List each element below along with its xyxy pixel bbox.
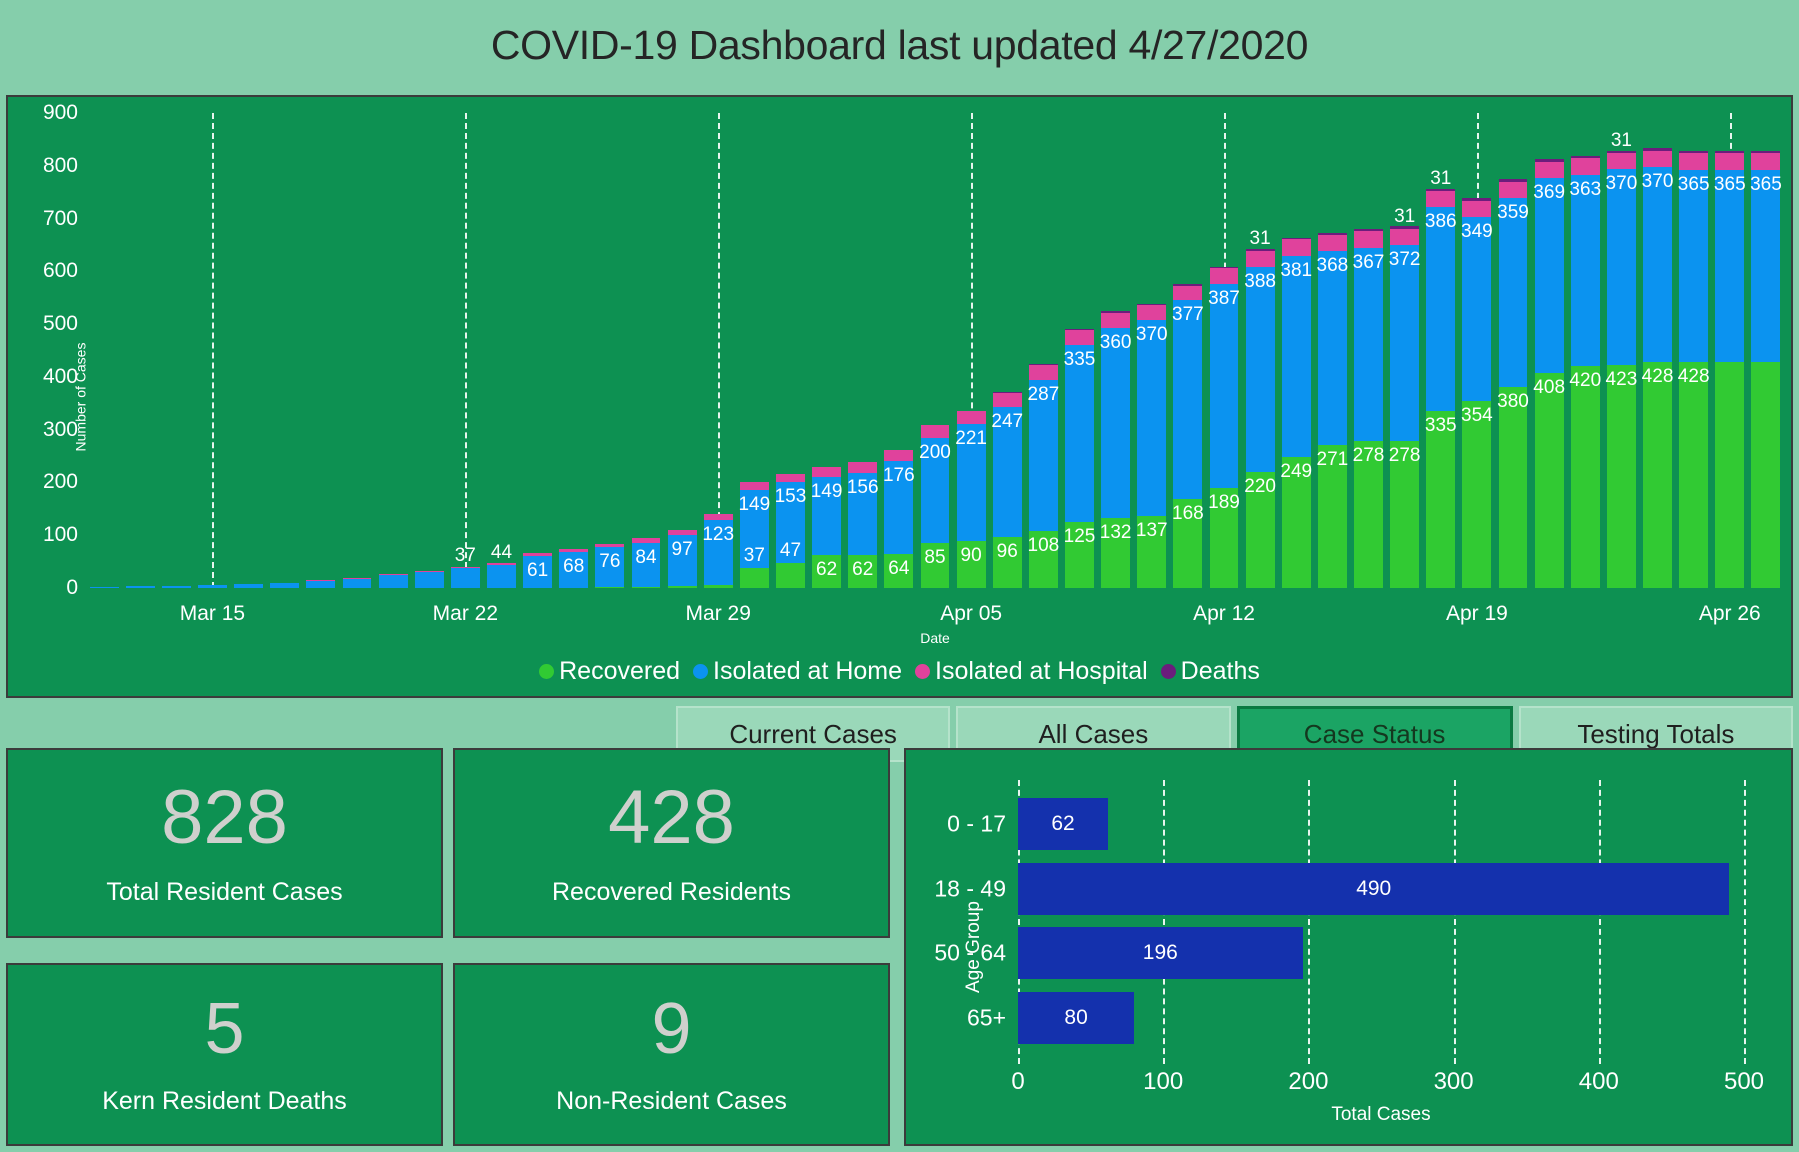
age-plot-area: 0 - 176218 - 4949050 - 6419665+80 010020… xyxy=(1018,792,1744,1050)
age-bar-row[interactable]: 65+80 xyxy=(1018,992,1744,1044)
bar-segment-isolated-at-hospital xyxy=(884,450,913,461)
bar-segment-isolated-at-hospital xyxy=(1101,313,1130,329)
age-group-chart: Age Group 0 - 176218 - 4949050 - 6419665… xyxy=(904,748,1793,1146)
tab-label: Case Status xyxy=(1304,719,1446,750)
bar-segment-isolated-at-home xyxy=(379,575,408,588)
bar-segment-isolated-at-home: 386 xyxy=(1426,207,1455,411)
age-x-tick-label: 500 xyxy=(1724,1068,1764,1096)
bar-value-label: 354 xyxy=(1461,406,1493,425)
bar-segment-recovered: 423 xyxy=(1607,365,1636,588)
kpi-value: 428 xyxy=(608,780,735,856)
bar-segment-isolated-at-home: 368 xyxy=(1318,251,1347,445)
bar-segment-recovered: 278 xyxy=(1354,441,1383,588)
age-bar: 80 xyxy=(1018,992,1134,1044)
stacked-bar[interactable] xyxy=(126,586,155,588)
bar-segment-isolated-at-home: 37 xyxy=(451,568,480,588)
bar-value-label: 365 xyxy=(1750,175,1782,194)
stacked-bar[interactable]: 360132 xyxy=(1101,311,1130,588)
age-bar-row[interactable]: 18 - 49490 xyxy=(1018,863,1744,915)
age-bar: 490 xyxy=(1018,863,1729,915)
bar-value-label: 189 xyxy=(1208,493,1240,512)
bar-segment-isolated-at-home xyxy=(90,587,119,588)
bar-value-label: 388 xyxy=(1244,272,1276,291)
bar-value-label: 62 xyxy=(816,560,837,579)
bar-segment-isolated-at-home: 365 xyxy=(1679,170,1708,363)
stacked-bar[interactable]: 365 xyxy=(1751,151,1780,588)
bar-segment-isolated-at-hospital xyxy=(1535,162,1564,178)
y-tick-label: 100 xyxy=(43,523,78,547)
bar-value-label: 125 xyxy=(1064,527,1096,546)
kpi-recovered-residents: 428 Recovered Residents xyxy=(453,748,890,938)
bar-segment-recovered: 271 xyxy=(1318,445,1347,588)
legend-swatch-icon xyxy=(1161,664,1176,679)
stacked-bar[interactable]: 368271 xyxy=(1318,233,1347,588)
kpi-kern-resident-deaths: 5 Kern Resident Deaths xyxy=(6,963,443,1146)
bar-segment-isolated-at-home: 287 xyxy=(1029,380,1058,531)
bar-segment-isolated-at-hospital xyxy=(1643,151,1672,167)
bar-segment-isolated-at-home: 381 xyxy=(1282,256,1311,457)
bar-segment-isolated-at-home: 76 xyxy=(595,547,624,587)
stacked-bar[interactable]: 84 xyxy=(632,538,661,588)
y-tick-label: 900 xyxy=(43,101,78,125)
bar-value-label: 90 xyxy=(961,546,982,565)
age-category-label: 50 - 64 xyxy=(934,940,1006,967)
y-tick-label: 500 xyxy=(43,312,78,336)
stacked-bar[interactable]: 349354 xyxy=(1462,198,1491,588)
bar-segment-recovered: 96 xyxy=(993,537,1022,588)
bar-value-label: 176 xyxy=(883,466,915,485)
bar-value-label: 97 xyxy=(672,540,693,559)
stacked-bar[interactable]: 68 xyxy=(559,549,588,588)
bar-value-label: 156 xyxy=(847,478,879,497)
bar-segment-recovered: 132 xyxy=(1101,518,1130,588)
bar-segment-recovered: 380 xyxy=(1499,387,1528,588)
stacked-bar[interactable]: 359380 xyxy=(1499,179,1528,588)
stacked-bar[interactable]: 15347 xyxy=(776,474,805,589)
stacked-bar[interactable] xyxy=(343,578,372,588)
bar-segment-isolated-at-hospital: 31 xyxy=(1426,191,1455,207)
bar-value-label: 132 xyxy=(1100,523,1132,542)
bar-value-label: 278 xyxy=(1389,446,1421,465)
legend-item-recovered[interactable]: Recovered xyxy=(539,657,680,686)
bar-segment-isolated-at-home xyxy=(162,586,191,588)
bar-segment-isolated-at-home: 156 xyxy=(848,473,877,555)
legend-swatch-icon xyxy=(539,664,554,679)
bar-segment-isolated-at-home: 377 xyxy=(1173,300,1202,499)
y-tick-label: 700 xyxy=(43,207,78,231)
bar-value-label: 369 xyxy=(1533,183,1565,202)
stacked-bar[interactable] xyxy=(234,584,263,588)
bar-segment-isolated-at-home: 360 xyxy=(1101,328,1130,518)
bar-segment-recovered: 220 xyxy=(1246,472,1275,588)
bar-segment-isolated-at-hospital xyxy=(1715,153,1744,169)
age-bar: 62 xyxy=(1018,798,1108,850)
age-bar-row[interactable]: 50 - 64196 xyxy=(1018,927,1744,979)
bar-value-label: 168 xyxy=(1172,504,1204,523)
stacked-bar[interactable]: 22190 xyxy=(957,411,986,588)
bar-value-label: 360 xyxy=(1100,333,1132,352)
bar-value-label: 365 xyxy=(1714,175,1746,194)
legend-label: Isolated at Hospital xyxy=(935,657,1148,686)
bar-segment-recovered xyxy=(595,587,624,588)
grid-line xyxy=(212,113,214,588)
plot-area: 0100200300400500600700800900 37446168768… xyxy=(86,113,1784,588)
bar-value-label: 149 xyxy=(811,482,843,501)
bar-segment-isolated-at-hospital xyxy=(957,411,986,424)
x-tick-label: Apr 05 xyxy=(940,602,1002,626)
stacked-bar[interactable]: 76 xyxy=(595,544,624,588)
y-tick-label: 600 xyxy=(43,259,78,283)
bar-segment-recovered: 137 xyxy=(1137,516,1166,588)
bar-value-label: 368 xyxy=(1317,256,1349,275)
x-tick-label: Mar 29 xyxy=(686,602,751,626)
bar-segment-isolated-at-hospital: 31 xyxy=(1246,251,1275,267)
bar-segment-recovered: 428 xyxy=(1643,362,1672,588)
age-x-tick-label: 300 xyxy=(1434,1068,1474,1096)
bar-segment-isolated-at-hospital: 31 xyxy=(1390,229,1419,245)
bar-segment-recovered: 354 xyxy=(1462,401,1491,588)
stacked-bar[interactable]: 377168 xyxy=(1173,284,1202,588)
bar-segment-isolated-at-home: 97 xyxy=(668,535,697,586)
bar-value-label: 367 xyxy=(1353,253,1385,272)
bar-segment-isolated-at-hospital xyxy=(1462,201,1491,217)
legend-label: Isolated at Home xyxy=(713,657,902,686)
stacked-bar[interactable]: 363420 xyxy=(1571,156,1600,588)
bar-value-label: 335 xyxy=(1064,350,1096,369)
bar-segment-isolated-at-home: 153 xyxy=(776,482,805,563)
stacked-bar[interactable] xyxy=(270,583,299,588)
x-tick-label: Mar 22 xyxy=(433,602,498,626)
bar-segment-isolated-at-hospital xyxy=(1137,305,1166,320)
bar-value-label: 200 xyxy=(919,443,951,462)
age-x-tick-label: 400 xyxy=(1579,1068,1619,1096)
stacked-bar[interactable]: 367278 xyxy=(1354,229,1383,588)
bar-segment-recovered: 428 xyxy=(1679,362,1708,588)
x-tick-label: Apr 19 xyxy=(1446,602,1508,626)
kpi-value: 9 xyxy=(651,993,691,1065)
bar-segment-recovered: 47 xyxy=(776,563,805,588)
case-status-timeline-chart: Number of Cases 010020030040050060070080… xyxy=(6,95,1793,698)
bar-value-label: 220 xyxy=(1244,477,1276,496)
age-bar: 196 xyxy=(1018,927,1303,979)
chart-legend: RecoveredIsolated at HomeIsolated at Hos… xyxy=(8,657,1791,686)
y-tick-label: 800 xyxy=(43,154,78,178)
bar-value-label: 221 xyxy=(955,429,987,448)
bar-segment-isolated-at-hospital xyxy=(1679,153,1708,169)
age-category-label: 65+ xyxy=(967,1004,1006,1031)
age-bar-value-label: 490 xyxy=(1356,877,1391,901)
bar-value-label: 68 xyxy=(563,557,584,576)
bar-value-label: 363 xyxy=(1569,180,1601,199)
bar-segment-isolated-at-hospital xyxy=(848,462,877,473)
legend-swatch-icon xyxy=(693,664,708,679)
bar-value-label: 370 xyxy=(1642,172,1674,191)
bar-value-label: 386 xyxy=(1425,212,1457,231)
bar-segment-isolated-at-home: 370 xyxy=(1643,167,1672,362)
bar-segment-isolated-at-home: 372 xyxy=(1390,245,1419,441)
stacked-bar[interactable]: 370137 xyxy=(1137,304,1166,588)
bar-segment-isolated-at-home xyxy=(343,579,372,589)
stacked-bar[interactable]: 370428 xyxy=(1643,148,1672,588)
bar-segment-recovered: 408 xyxy=(1535,373,1564,588)
bar-segment-isolated-at-home: 221 xyxy=(957,424,986,541)
bar-segment-isolated-at-home: 61 xyxy=(523,556,552,588)
stacked-bar[interactable]: 123 xyxy=(704,514,733,588)
bar-segment-recovered: 189 xyxy=(1210,488,1239,588)
bar-value-label: 380 xyxy=(1497,392,1529,411)
stacked-bar[interactable]: 24796 xyxy=(993,392,1022,588)
stacked-bar[interactable]: 61 xyxy=(523,553,552,588)
stacked-bar[interactable]: 381249 xyxy=(1282,238,1311,588)
legend-item-isolated-at-hospital[interactable]: Isolated at Hospital xyxy=(915,657,1148,686)
age-bar-value-label: 62 xyxy=(1051,812,1074,836)
bar-value-label: 62 xyxy=(852,560,873,579)
bar-value-label: 249 xyxy=(1280,462,1312,481)
bar-value-label: 359 xyxy=(1497,203,1529,222)
age-grid-line xyxy=(1744,780,1746,1064)
y-tick-label: 300 xyxy=(43,418,78,442)
bar-segment-isolated-at-hospital xyxy=(921,425,950,437)
legend-item-isolated-at-home[interactable]: Isolated at Home xyxy=(693,657,902,686)
bar-value-label: 96 xyxy=(997,542,1018,561)
age-x-axis-label: Total Cases xyxy=(1018,1104,1744,1126)
bar-segment-isolated-at-home xyxy=(234,584,263,588)
y-tick-label: 400 xyxy=(43,365,78,389)
bar-segment-recovered: 125 xyxy=(1065,522,1094,588)
bar-segment-recovered xyxy=(1751,362,1780,588)
stacked-bar[interactable]: 369408 xyxy=(1535,159,1564,588)
stacked-bar[interactable]: 37 xyxy=(451,567,480,588)
stacked-bar[interactable]: 31372278 xyxy=(1390,226,1419,588)
bar-value-label: 287 xyxy=(1028,385,1060,404)
bar-value-label: 349 xyxy=(1461,222,1493,241)
kpi-label: Non-Resident Cases xyxy=(556,1087,787,1116)
bar-segment-isolated-at-home xyxy=(415,572,444,588)
bar-segment-isolated-at-home: 68 xyxy=(559,552,588,588)
bar-segment-isolated-at-home: 365 xyxy=(1751,170,1780,363)
age-x-tick-label: 0 xyxy=(1011,1068,1024,1096)
age-category-label: 18 - 49 xyxy=(934,875,1006,902)
tab-label: Current Cases xyxy=(729,719,897,750)
bar-value-label: 85 xyxy=(924,548,945,567)
bar-segment-isolated-at-hospital xyxy=(1210,268,1239,284)
stacked-bar[interactable]: 335125 xyxy=(1065,329,1094,588)
bar-value-label: 247 xyxy=(991,412,1023,431)
bar-value-label: 370 xyxy=(1136,325,1168,344)
bar-segment-isolated-at-home: 44 xyxy=(487,565,516,588)
bar-value-label: 153 xyxy=(775,487,807,506)
bar-segment-isolated-at-home: 369 xyxy=(1535,178,1564,373)
bar-segment-isolated-at-home: 388 xyxy=(1246,267,1275,472)
y-tick-label: 200 xyxy=(43,470,78,494)
kpi-non-resident-cases: 9 Non-Resident Cases xyxy=(453,963,890,1146)
bar-segment-isolated-at-home: 200 xyxy=(921,438,950,544)
bar-value-label: 149 xyxy=(738,495,770,514)
stacked-bar[interactable]: 31370423 xyxy=(1607,151,1636,589)
stacked-bar[interactable]: 17664 xyxy=(884,450,913,588)
stacked-bar[interactable] xyxy=(379,574,408,588)
x-tick-label: Apr 12 xyxy=(1193,602,1255,626)
bar-segment-recovered xyxy=(668,586,697,588)
stacked-bar[interactable]: 31388220 xyxy=(1246,249,1275,588)
bar-value-label: 365 xyxy=(1678,175,1710,194)
bar-segment-isolated-at-home: 370 xyxy=(1137,320,1166,515)
stacked-bar[interactable] xyxy=(162,586,191,588)
bar-value-label: 108 xyxy=(1028,536,1060,555)
stacked-bar[interactable]: 44 xyxy=(487,563,516,588)
bar-segment-isolated-at-home: 349 xyxy=(1462,217,1491,401)
grid-line xyxy=(465,113,467,588)
stacked-bar[interactable]: 15662 xyxy=(848,462,877,588)
stacked-bar[interactable]: 14937 xyxy=(740,482,769,588)
bar-value-label: 271 xyxy=(1317,450,1349,469)
bar-segment-isolated-at-hospital xyxy=(1065,330,1094,345)
bar-segment-isolated-at-hospital xyxy=(1499,182,1528,198)
bar-segment-recovered: 90 xyxy=(957,541,986,589)
bar-segment-recovered: 64 xyxy=(884,554,913,588)
bar-segment-recovered: 278 xyxy=(1390,441,1419,588)
bar-segment-isolated-at-home xyxy=(270,583,299,588)
tab-label: Testing Totals xyxy=(1577,719,1734,750)
dashboard-root: COVID-19 Dashboard last updated 4/27/202… xyxy=(0,0,1799,1152)
bar-segment-isolated-at-hospital xyxy=(1751,153,1780,169)
legend-swatch-icon xyxy=(915,664,930,679)
bar-segment-isolated-at-home: 359 xyxy=(1499,198,1528,387)
bar-segment-recovered: 168 xyxy=(1173,499,1202,588)
age-bar-row[interactable]: 0 - 1762 xyxy=(1018,798,1744,850)
bar-value-label: 31 xyxy=(1611,131,1632,150)
bar-value-label: 137 xyxy=(1136,521,1168,540)
bar-value-label: 428 xyxy=(1642,367,1674,386)
bar-segment-recovered: 249 xyxy=(1282,457,1311,588)
bar-segment-isolated-at-hospital xyxy=(993,393,1022,407)
stacked-bar[interactable]: 31386335 xyxy=(1426,189,1455,588)
bar-value-label: 387 xyxy=(1208,289,1240,308)
bar-value-label: 408 xyxy=(1533,378,1565,397)
y-tick-label: 0 xyxy=(66,576,78,600)
stacked-bar[interactable]: 387189 xyxy=(1210,267,1239,588)
bar-segment-recovered xyxy=(704,585,733,588)
bar-segment-isolated-at-hospital xyxy=(1029,365,1058,380)
legend-label: Recovered xyxy=(559,657,680,686)
bar-value-label: 64 xyxy=(888,559,909,578)
bar-segment-recovered xyxy=(632,587,661,588)
bar-value-label: 381 xyxy=(1280,261,1312,280)
bar-segment-isolated-at-hospital xyxy=(740,482,769,489)
bar-segment-isolated-at-home: 149 xyxy=(812,477,841,556)
bar-segment-isolated-at-home: 149 xyxy=(740,490,769,569)
bar-segment-isolated-at-home xyxy=(198,585,227,588)
bar-segment-isolated-at-home: 176 xyxy=(884,461,913,554)
bar-segment-recovered: 108 xyxy=(1029,531,1058,588)
x-axis-label: Date xyxy=(86,630,1784,646)
bar-segment-isolated-at-home: 123 xyxy=(704,520,733,585)
bar-value-label: 420 xyxy=(1569,371,1601,390)
stacked-bar[interactable]: 14962 xyxy=(812,467,841,588)
legend-item-deaths[interactable]: Deaths xyxy=(1161,657,1260,686)
bar-segment-recovered: 420 xyxy=(1571,366,1600,588)
stacked-bar[interactable] xyxy=(90,587,119,588)
bar-value-label: 370 xyxy=(1606,174,1638,193)
stacked-bar[interactable] xyxy=(415,571,444,588)
bar-segment-isolated-at-hospital xyxy=(1571,158,1600,174)
bar-segment-recovered: 37 xyxy=(740,568,769,588)
bar-segment-isolated-at-home: 370 xyxy=(1607,169,1636,364)
kpi-label: Recovered Residents xyxy=(552,878,791,907)
bar-segment-isolated-at-home: 363 xyxy=(1571,175,1600,367)
bar-segment-isolated-at-hospital xyxy=(1318,235,1347,251)
age-category-label: 0 - 17 xyxy=(947,811,1006,838)
bar-segment-recovered xyxy=(1715,362,1744,588)
x-tick-label: Mar 15 xyxy=(180,602,245,626)
stacked-bar[interactable]: 365428 xyxy=(1679,151,1708,588)
bar-segment-isolated-at-hospital xyxy=(1282,239,1311,255)
bar-value-label: 61 xyxy=(527,561,548,580)
bar-segment-recovered: 62 xyxy=(812,555,841,588)
bar-value-label: 335 xyxy=(1425,416,1457,435)
stacked-bar[interactable] xyxy=(306,580,335,588)
bar-value-label: 84 xyxy=(635,548,656,567)
tab-label: All Cases xyxy=(1038,719,1148,750)
bar-segment-isolated-at-home: 367 xyxy=(1354,248,1383,442)
bar-segment-isolated-at-home: 335 xyxy=(1065,345,1094,522)
bar-segment-isolated-at-home: 365 xyxy=(1715,170,1744,363)
kpi-value: 828 xyxy=(161,780,288,856)
kpi-label: Total Resident Cases xyxy=(106,878,342,907)
bar-segment-isolated-at-home: 387 xyxy=(1210,284,1239,488)
bar-segment-recovered: 335 xyxy=(1426,411,1455,588)
stacked-bar[interactable]: 97 xyxy=(668,530,697,588)
age-bar-value-label: 196 xyxy=(1143,941,1178,965)
bar-segment-isolated-at-hospital xyxy=(812,467,841,477)
legend-label: Deaths xyxy=(1181,657,1260,686)
bar-value-label: 377 xyxy=(1172,305,1204,324)
stacked-bar[interactable]: 287108 xyxy=(1029,364,1058,588)
bar-value-label: 372 xyxy=(1389,250,1421,269)
x-tick-label: Apr 26 xyxy=(1699,602,1761,626)
kpi-label: Kern Resident Deaths xyxy=(102,1087,347,1116)
bar-value-label: 278 xyxy=(1353,446,1385,465)
kpi-total-resident-cases: 828 Total Resident Cases xyxy=(6,748,443,938)
bar-value-label: 428 xyxy=(1678,367,1710,386)
bar-segment-isolated-at-home: 84 xyxy=(632,543,661,587)
bar-value-label: 123 xyxy=(702,525,734,544)
bar-value-label: 44 xyxy=(491,543,512,562)
stacked-bar[interactable]: 365 xyxy=(1715,151,1744,588)
bar-segment-recovered: 85 xyxy=(921,543,950,588)
bar-value-label: 31 xyxy=(1394,207,1415,226)
bar-value-label: 76 xyxy=(599,552,620,571)
bar-segment-isolated-at-hospital: 31 xyxy=(1607,153,1636,169)
age-x-tick-label: 200 xyxy=(1288,1068,1328,1096)
page-title: COVID-19 Dashboard last updated 4/27/202… xyxy=(0,22,1799,69)
bar-segment-isolated-at-hospital xyxy=(1354,231,1383,247)
bar-segment-isolated-at-home xyxy=(306,581,335,588)
bar-segment-recovered: 62 xyxy=(848,555,877,588)
bar-value-label: 31 xyxy=(1430,169,1451,188)
age-bar-value-label: 80 xyxy=(1064,1006,1087,1030)
stacked-bar[interactable]: 20085 xyxy=(921,425,950,588)
bar-segment-isolated-at-home: 247 xyxy=(993,407,1022,537)
bar-segment-isolated-at-home xyxy=(126,586,155,588)
bar-segment-isolated-at-hospital xyxy=(776,474,805,482)
bar-segment-isolated-at-hospital xyxy=(1173,286,1202,301)
kpi-value: 5 xyxy=(204,993,244,1065)
bar-value-label: 31 xyxy=(1250,229,1271,248)
stacked-bar[interactable] xyxy=(198,585,227,588)
bar-value-label: 423 xyxy=(1606,370,1638,389)
age-x-tick-label: 100 xyxy=(1143,1068,1183,1096)
